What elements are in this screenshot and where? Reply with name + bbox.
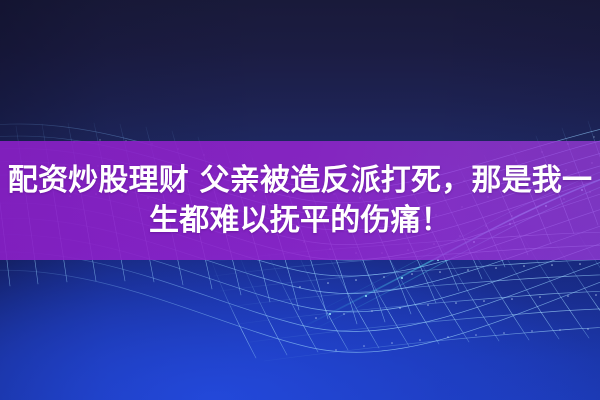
headline-text: 配资炒股理财 父亲被造反派打死，那是我一生都难以抚平的伤痛！	[0, 161, 600, 241]
banner-image: 配资炒股理财 父亲被造反派打死，那是我一生都难以抚平的伤痛！	[0, 0, 600, 400]
headline-band: 配资炒股理财 父亲被造反派打死，那是我一生都难以抚平的伤痛！	[0, 141, 600, 260]
